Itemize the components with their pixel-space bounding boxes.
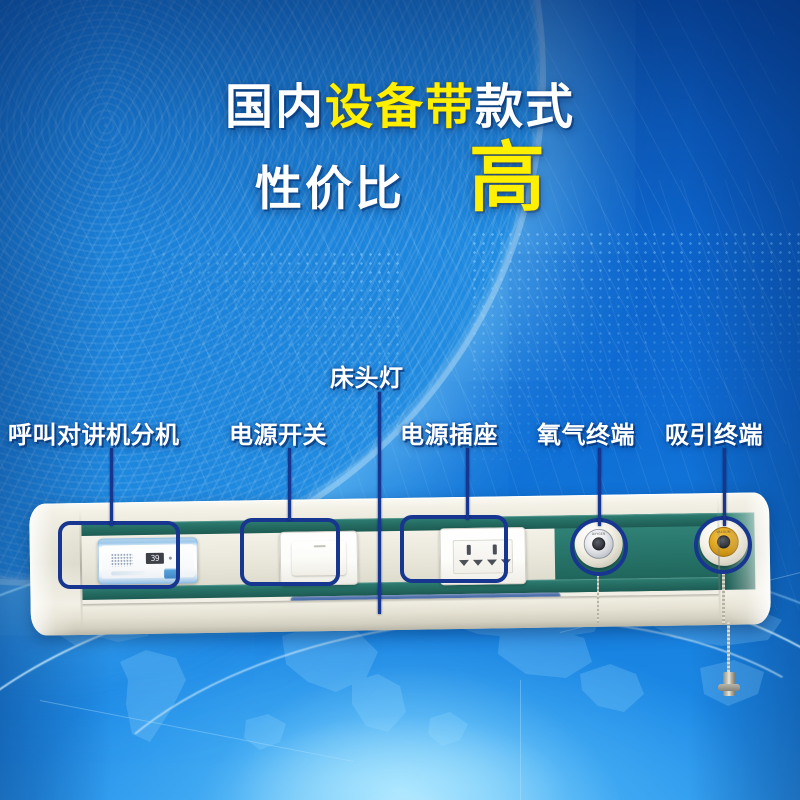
callout-label-suction-terminal: 吸引终端 <box>665 415 763 450</box>
banner-stage: 国内设备带款式 性价比 高 呼叫对讲机分机 电源开关 床头灯 电源插座 氧气终端… <box>0 0 800 800</box>
headline-line-2: 性价比 高 <box>0 148 800 221</box>
callout-label-power-socket: 电源插座 <box>400 415 498 450</box>
headline-seg-2: 设备带 <box>325 82 475 132</box>
callout-label-power-switch: 电源开关 <box>229 415 327 450</box>
callout-label-nurse-call: 呼叫对讲机分机 <box>8 415 180 450</box>
headline-subtitle: 性价比 <box>255 150 405 219</box>
headline-line-1: 国内设备带款式 <box>0 82 800 132</box>
headline-seg-3: 款式 <box>475 82 575 132</box>
callout-label-bedside-lamp: 床头灯 <box>330 358 404 393</box>
headline-seg-1: 国内 <box>225 82 325 132</box>
callout-label-oxygen-terminal: 氧气终端 <box>537 415 635 450</box>
headline-emphasis: 高 <box>469 142 545 215</box>
headline-block: 国内设备带款式 性价比 高 <box>0 82 800 221</box>
